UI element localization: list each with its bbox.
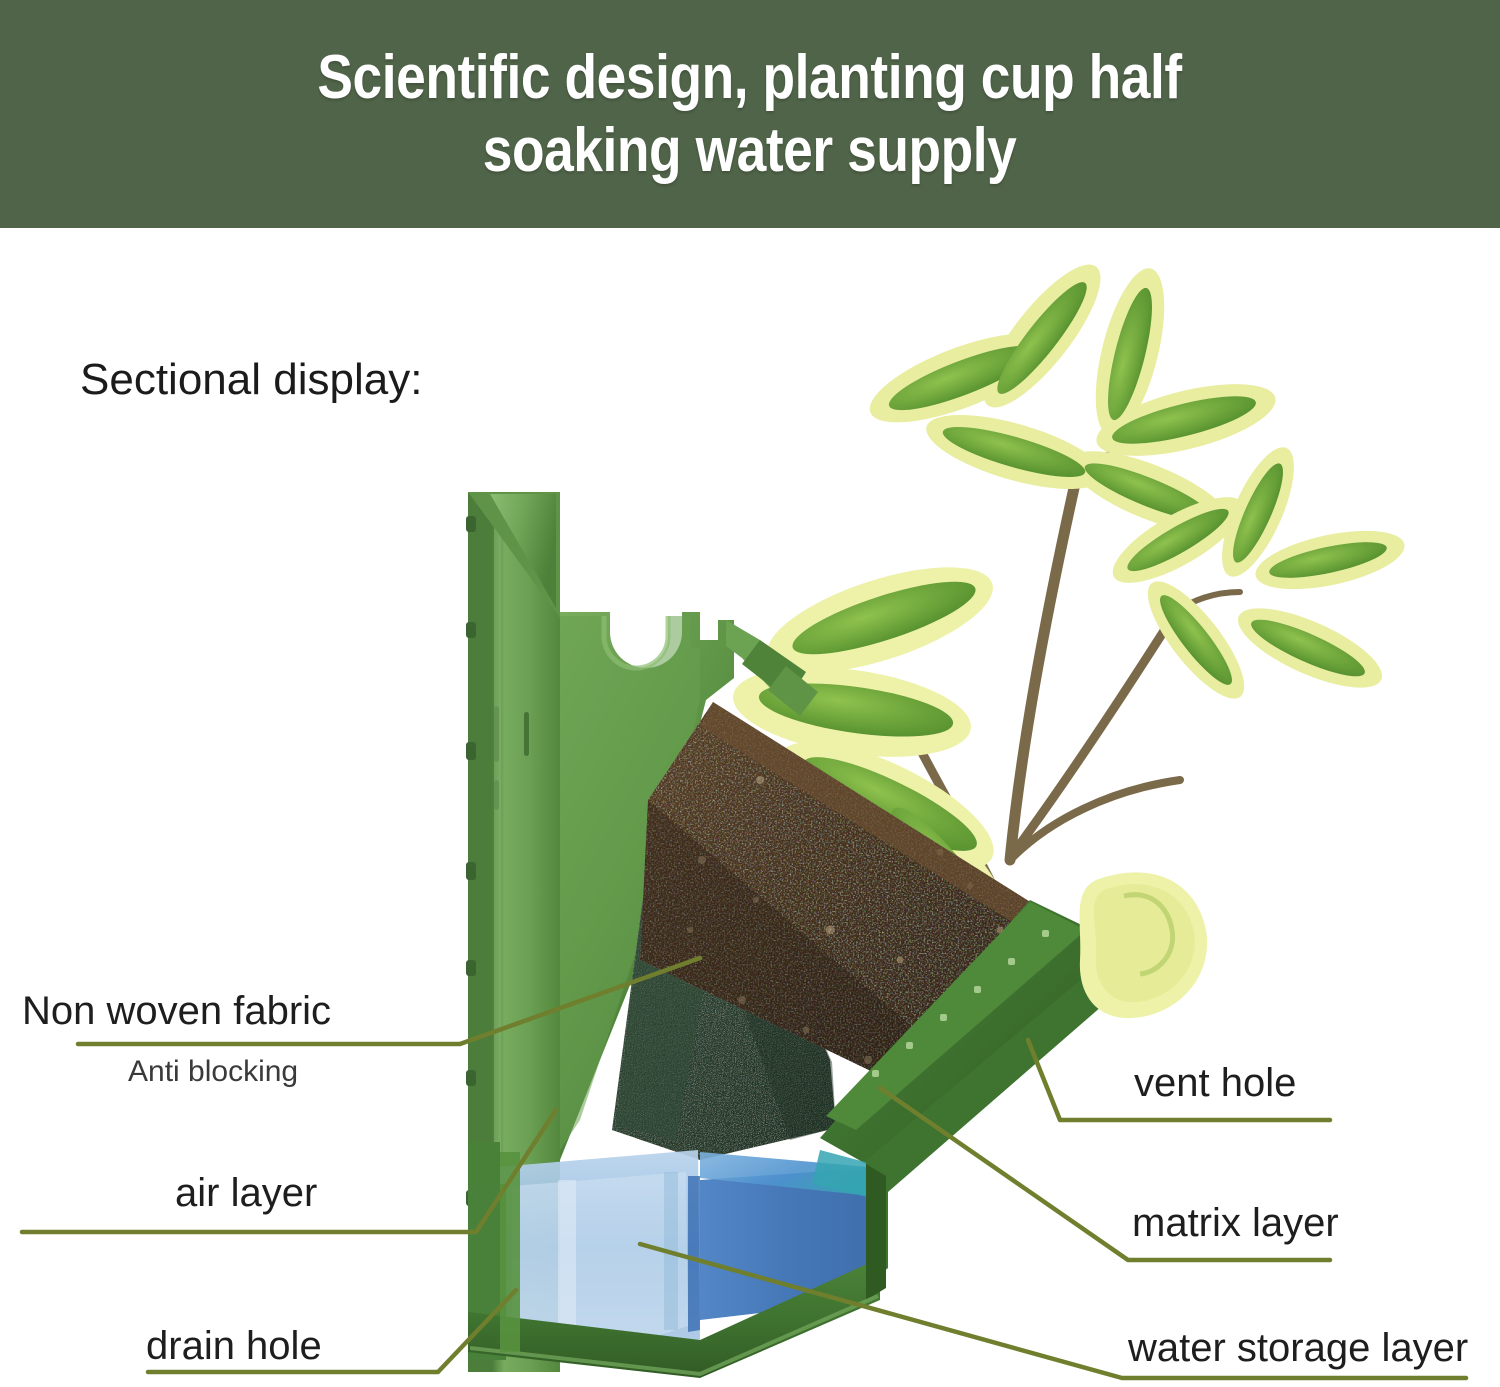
leaf-lower-right	[1080, 872, 1207, 1018]
callout-label-air-layer: air layer	[175, 1172, 317, 1214]
callout-label-non-woven-fabric: Non woven fabric	[22, 990, 331, 1032]
infographic-stage: Scientific design, planting cup half soa…	[0, 0, 1500, 1387]
callout-label-drain-hole: drain hole	[146, 1325, 322, 1367]
callout-label-water-storage-layer: water storage layer	[1128, 1327, 1468, 1369]
callout-sublabel-anti-blocking: Anti blocking	[128, 1056, 298, 1088]
callout-label-matrix-layer: matrix layer	[1132, 1202, 1339, 1244]
callout-label-vent-hole: vent hole	[1134, 1062, 1296, 1104]
